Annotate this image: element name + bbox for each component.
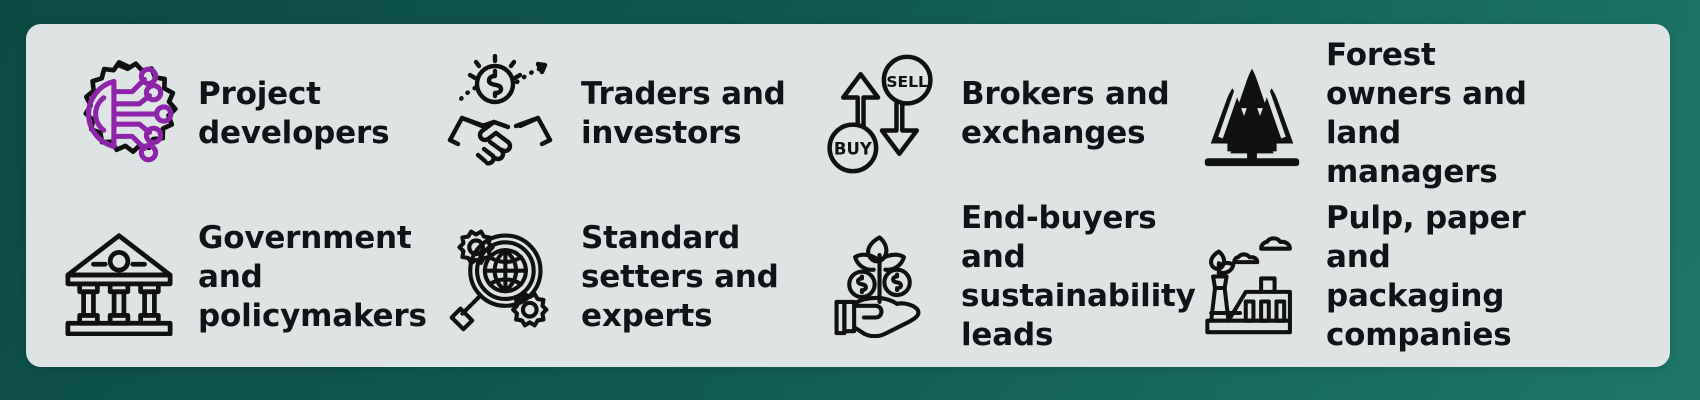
- stakeholder-label: Traders and investors: [581, 75, 800, 153]
- handshake-coin-icon: [432, 46, 567, 181]
- government-building-icon: [54, 210, 184, 345]
- forest-trees-icon: [1192, 46, 1312, 181]
- stakeholder-item-end-buyers-and-sustainability-leads[interactable]: End-buyers and sustainability leads: [806, 196, 1186, 360]
- stakeholder-label: Project developers: [198, 75, 420, 153]
- stakeholder-label: Standard setters and experts: [581, 219, 800, 336]
- stakeholder-item-government-and-policymakers[interactable]: Government and policymakers: [36, 196, 426, 360]
- infographic-stage: Project developers: [0, 0, 1700, 400]
- stakeholder-label: End-buyers and sustainability leads: [961, 199, 1196, 355]
- stakeholder-label: Government and policymakers: [198, 219, 427, 336]
- stakeholder-card: Project developers: [26, 24, 1670, 367]
- stakeholder-item-project-developers[interactable]: Project developers: [36, 32, 426, 196]
- stakeholder-label: Pulp, paper and packaging companies: [1326, 199, 1566, 355]
- stakeholder-label: Forest owners and land managers: [1326, 36, 1566, 192]
- sell-label: SELL: [886, 73, 928, 91]
- stakeholder-item-standard-setters-and-experts[interactable]: Standard setters and experts: [426, 196, 806, 360]
- factory-eco-icon: [1192, 210, 1312, 345]
- stakeholder-item-forest-owners-and-land-managers[interactable]: Forest owners and land managers: [1186, 32, 1670, 196]
- stakeholder-item-pulp-paper-and-packaging-companies[interactable]: Pulp, paper and packaging companies: [1186, 196, 1670, 360]
- magnifier-globe-gears-icon: [432, 210, 567, 345]
- gear-circuit-icon: [54, 46, 184, 181]
- hand-plant-coins-icon: [812, 210, 947, 345]
- buy-label: BUY: [833, 139, 872, 158]
- buy-sell-arrows-icon: BUY SELL: [812, 46, 947, 181]
- stakeholder-item-traders-and-investors[interactable]: Traders and investors: [426, 32, 806, 196]
- stakeholder-label: Brokers and exchanges: [961, 75, 1180, 153]
- stakeholder-item-brokers-and-exchanges[interactable]: BUY SELL Brokers and exchanges: [806, 32, 1186, 196]
